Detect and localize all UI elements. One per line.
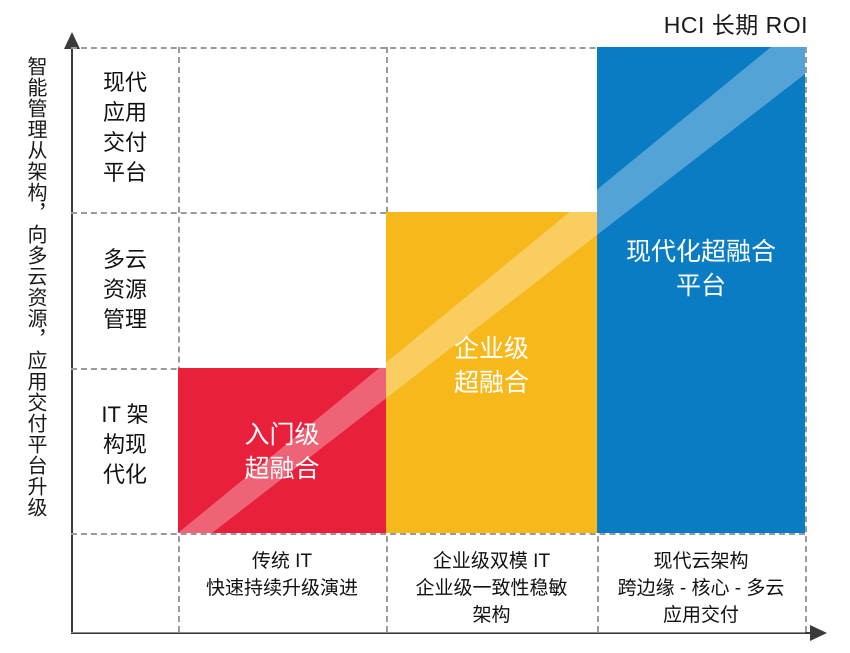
block-enterprise-hci[interactable]: 企业级 超融合 <box>386 212 597 533</box>
x-tick-line: 跨边缘 - 核心 - 多云 <box>597 575 805 602</box>
x-tick-line: 架构 <box>386 602 597 629</box>
x-tick-line: 现代云架构 <box>597 548 805 575</box>
x-tick-line: 应用交付 <box>597 602 805 629</box>
gridline-v-1 <box>178 47 180 632</box>
block-label-line: 平台 <box>597 269 805 303</box>
y-tick-line: IT 架 <box>75 400 175 430</box>
block-modern-hci-platform[interactable]: 现代化超融合 平台 <box>597 47 805 533</box>
y-tick-line: 交付 <box>75 128 175 158</box>
y-tick-line: 平台 <box>75 158 175 188</box>
block-modern-label: 现代化超融合 平台 <box>597 235 805 303</box>
chart-container: HCI 长期 ROI 智能管理从架构，向多云资源，应用交付平台升级 现代 应用 … <box>0 0 850 653</box>
block-label-line: 超融合 <box>386 366 597 400</box>
y-tick-line: 多云 <box>75 245 175 275</box>
block-label-line: 入门级 <box>178 418 386 452</box>
y-tick-line: 管理 <box>75 305 175 335</box>
y-axis-label: 智能管理从架构，向多云资源，应用交付平台升级 <box>6 56 46 636</box>
block-entry-label: 入门级 超融合 <box>178 418 386 486</box>
gridline-h-bottom <box>71 533 805 535</box>
x-tick-label-bimodal-it: 企业级双模 IT 企业级一致性稳敏 架构 <box>386 548 597 629</box>
x-tick-line: 企业级一致性稳敏 <box>386 575 597 602</box>
block-enterprise-label: 企业级 超融合 <box>386 332 597 400</box>
y-tick-line: 应用 <box>75 98 175 128</box>
block-label-line: 企业级 <box>386 332 597 366</box>
block-entry-level-hci[interactable]: 入门级 超融合 <box>178 368 386 533</box>
y-tick-line: 代化 <box>75 460 175 490</box>
y-tick-line: 资源 <box>75 275 175 305</box>
y-tick-line: 构现 <box>75 430 175 460</box>
block-label-line: 现代化超融合 <box>597 235 805 269</box>
chart-title: HCI 长期 ROI <box>664 6 808 40</box>
x-tick-line: 传统 IT <box>178 548 386 575</box>
y-tick-label-multicloud-resource: 多云 资源 管理 <box>75 245 175 335</box>
y-tick-label-it-architecture: IT 架 构现 代化 <box>75 400 175 490</box>
block-label-line: 超融合 <box>178 452 386 486</box>
x-tick-label-modern-cloud: 现代云架构 跨边缘 - 核心 - 多云 应用交付 <box>597 548 805 629</box>
y-tick-label-modern-app-platform: 现代 应用 交付 平台 <box>75 68 175 188</box>
x-tick-line: 快速持续升级演进 <box>178 575 386 602</box>
gridline-v-4 <box>805 47 807 632</box>
y-tick-line: 现代 <box>75 68 175 98</box>
x-tick-label-traditional-it: 传统 IT 快速持续升级演进 <box>178 548 386 602</box>
x-axis-arrow-icon <box>810 625 827 641</box>
x-tick-line: 企业级双模 IT <box>386 548 597 575</box>
